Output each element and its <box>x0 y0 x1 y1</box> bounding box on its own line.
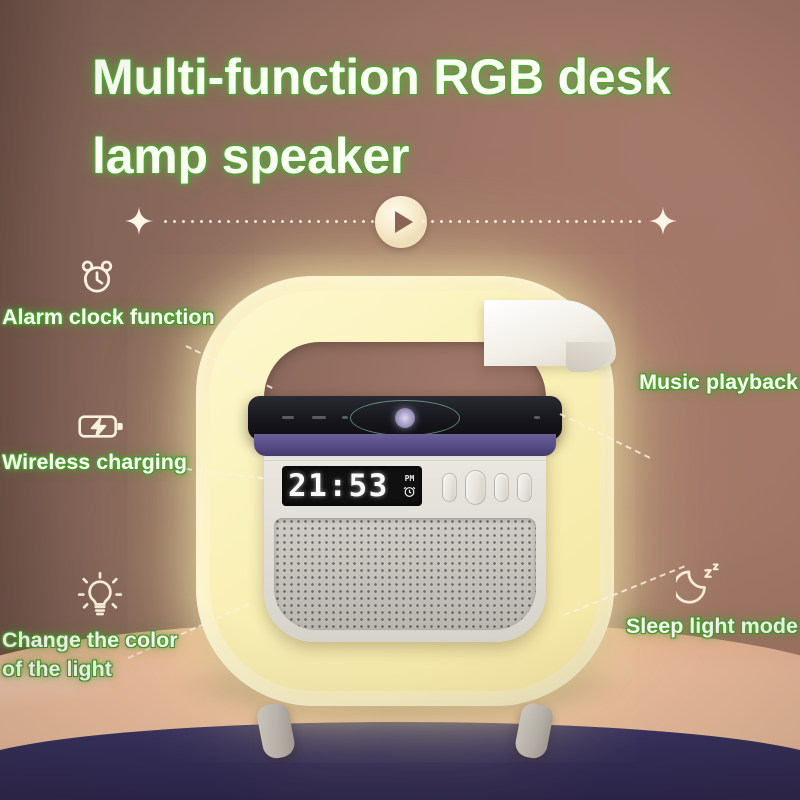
feature-color-label-line2: of the light <box>2 655 266 684</box>
feature-music-label: Music playback <box>639 370 798 394</box>
sparkle-icon <box>649 207 677 235</box>
headline-line-1: Multi-function RGB desk <box>92 49 671 105</box>
clock-meridiem: PM <box>405 475 415 483</box>
wireless-charging-core-icon <box>395 408 415 428</box>
battery-charging-icon <box>2 412 266 441</box>
control-button-3[interactable] <box>494 473 509 502</box>
clock-indicators: PM <box>403 475 416 498</box>
desk-front-panel <box>0 722 800 800</box>
feature-color-label: Change the color of the light <box>2 626 266 684</box>
divider-dots-right <box>419 220 641 223</box>
speaker-grille <box>274 518 536 630</box>
alarm-bell-icon <box>403 485 416 498</box>
speaker-clock-unit: 21:53 PM <box>264 436 546 642</box>
led-clock-display: 21:53 PM <box>282 466 422 506</box>
phone-detail-mark <box>282 416 294 419</box>
play-icon <box>395 211 413 233</box>
feature-music-playback: Music playback <box>534 368 798 397</box>
feature-alarm-clock: Alarm clock function <box>2 258 266 332</box>
alarm-clock-icon <box>2 258 266 296</box>
headline-line-2: lamp speaker <box>92 117 764 196</box>
phone-purple-edge <box>254 434 556 456</box>
feature-color-label-line1: Change the color <box>2 626 266 655</box>
clock-time-value: 21:53 <box>288 471 389 502</box>
feature-change-color: Change the color of the light <box>2 572 266 684</box>
divider-dots-left <box>161 220 383 223</box>
page-title: Multi-function RGB desk lamp speaker <box>92 38 764 196</box>
media-divider <box>125 196 677 246</box>
control-button-2[interactable] <box>465 470 486 505</box>
moon-sleep-icon <box>534 562 798 605</box>
feature-alarm-label: Alarm clock function <box>2 305 215 329</box>
lightbulb-icon <box>2 572 266 619</box>
sparkle-icon <box>125 207 153 235</box>
control-button-4[interactable] <box>517 473 532 502</box>
phone-detail-mark <box>342 416 348 419</box>
control-button-1[interactable] <box>442 473 457 502</box>
device-control-buttons <box>442 470 532 505</box>
phone-detail-mark <box>312 416 326 419</box>
phone-detail-mark <box>534 416 540 419</box>
feature-sleep-label: Sleep light mode <box>626 614 798 638</box>
feature-sleep-light-mode: Sleep light mode <box>534 562 798 641</box>
feature-charging-label: Wireless charging <box>2 450 187 474</box>
feature-wireless-charging: Wireless charging <box>2 412 266 477</box>
product-poster: 21:53 PM <box>0 0 800 800</box>
